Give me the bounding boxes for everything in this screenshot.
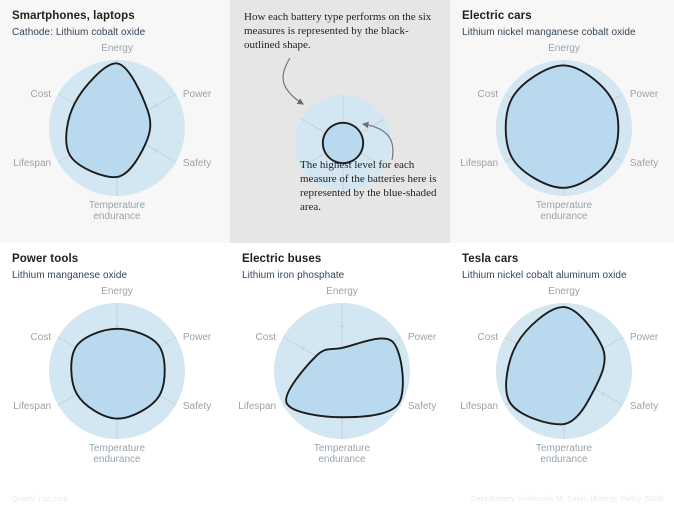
- axis-label-temperature: Temperatureendurance: [536, 443, 593, 465]
- annotation-bottom-text: The highest level for each measure of th…: [300, 158, 442, 214]
- panel-title: Power tools: [12, 252, 230, 266]
- axis-label-cost: Cost: [256, 332, 277, 343]
- value-shape: [71, 329, 164, 419]
- axis-label-lifespan: Lifespan: [13, 401, 51, 412]
- axis-label-energy: Energy: [548, 43, 580, 54]
- axis-label-safety: Safety: [630, 158, 658, 169]
- axis-label-cost: Cost: [478, 89, 499, 100]
- annotation-top-text: How each battery type performs on the si…: [244, 10, 434, 52]
- panel-electric-cars: Electric cars Lithium nickel manganese c…: [450, 0, 674, 243]
- axis-label-power: Power: [408, 332, 437, 343]
- axis-label-power: Power: [183, 332, 212, 343]
- radar-svg: EnergyPowerSafetyTemperatureenduranceLif…: [452, 275, 672, 481]
- axis-label-temperature: Temperatureendurance: [89, 443, 146, 465]
- radar-svg: EnergyPowerSafetyTemperatureenduranceLif…: [5, 32, 225, 238]
- panel-power-tools: Power tools Lithium manganese oxide Ener…: [0, 243, 230, 507]
- radar-chart-electric-buses: EnergyPowerSafetyTemperatureenduranceLif…: [230, 275, 450, 485]
- credit-source: Data:Battery University, M. Safari (Ener…: [471, 494, 664, 503]
- axis-label-lifespan: Lifespan: [460, 401, 498, 412]
- panel-title: Electric buses: [242, 252, 450, 266]
- panel-title: Electric cars: [462, 9, 674, 23]
- axis-label-energy: Energy: [548, 286, 580, 297]
- panel-annotation: How each battery type performs on the si…: [230, 0, 450, 243]
- panel-smartphones: Smartphones, laptops Cathode: Lithium co…: [0, 0, 230, 243]
- axis-label-energy: Energy: [101, 43, 133, 54]
- axis-label-lifespan: Lifespan: [13, 158, 51, 169]
- axis-label-power: Power: [630, 89, 659, 100]
- panel-title: Tesla cars: [462, 252, 674, 266]
- credit-quartz: Quartz | qz.com: [12, 494, 68, 503]
- axis-label-temperature: Temperatureendurance: [536, 200, 593, 222]
- panel-tesla-cars: Tesla cars Lithium nickel cobalt aluminu…: [450, 243, 674, 507]
- axis-label-energy: Energy: [326, 286, 358, 297]
- radar-chart-electric-cars: EnergyPowerSafetyTemperatureenduranceLif…: [450, 32, 674, 242]
- axis-label-safety: Safety: [408, 401, 436, 412]
- radar-chart-smartphones: EnergyPowerSafetyTemperatureenduranceLif…: [0, 32, 230, 242]
- radar-svg: EnergyPowerSafetyTemperatureenduranceLif…: [230, 275, 450, 481]
- axis-label-power: Power: [630, 332, 659, 343]
- axis-label-lifespan: Lifespan: [238, 401, 276, 412]
- axis-label-cost: Cost: [478, 332, 499, 343]
- axis-label-temperature: Temperatureendurance: [314, 443, 371, 465]
- axis-label-temperature: Temperatureendurance: [89, 200, 146, 222]
- axis-label-cost: Cost: [31, 89, 52, 100]
- radar-chart-power-tools: EnergyPowerSafetyTemperatureenduranceLif…: [0, 275, 230, 485]
- axis-label-safety: Safety: [183, 401, 211, 412]
- axis-label-energy: Energy: [101, 286, 133, 297]
- radar-svg: EnergyPowerSafetyTemperatureenduranceLif…: [452, 32, 672, 238]
- panel-electric-buses: Electric buses Lithium iron phosphate En…: [230, 243, 450, 507]
- panel-title: Smartphones, laptops: [12, 9, 230, 23]
- axis-label-power: Power: [183, 89, 212, 100]
- axis-label-safety: Safety: [630, 401, 658, 412]
- radar-chart-grid: Smartphones, laptops Cathode: Lithium co…: [0, 0, 674, 507]
- radar-chart-tesla-cars: EnergyPowerSafetyTemperatureenduranceLif…: [450, 275, 674, 485]
- axis-label-safety: Safety: [183, 158, 211, 169]
- radar-svg: EnergyPowerSafetyTemperatureenduranceLif…: [5, 275, 225, 481]
- axis-label-cost: Cost: [31, 332, 52, 343]
- axis-label-lifespan: Lifespan: [460, 158, 498, 169]
